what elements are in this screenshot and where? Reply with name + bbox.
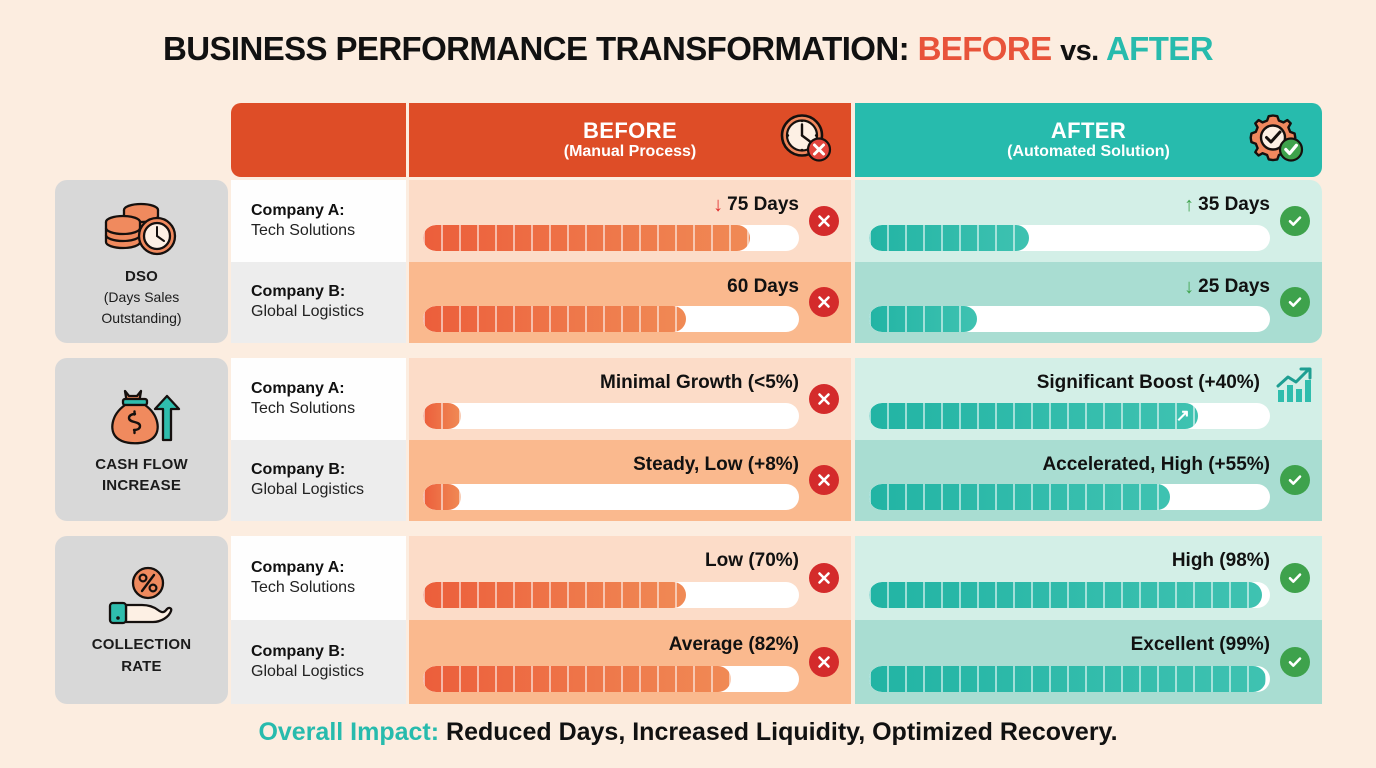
company-name: Company A: <box>251 201 406 221</box>
progress-track <box>423 306 799 332</box>
progress-fill <box>423 306 686 332</box>
status-badge-success <box>1280 465 1310 495</box>
company-org: Global Logistics <box>251 480 406 500</box>
before-cell-collection-rate-b: Average (82%) <box>409 620 851 704</box>
company-org: Tech Solutions <box>251 578 406 598</box>
trend-chart-icon <box>1274 366 1314 411</box>
after-cell-cash-flow-b: Accelerated, High (+55%) <box>855 440 1322 522</box>
after-cell-collection-rate-b: Excellent (99%) <box>855 620 1322 704</box>
progress-track <box>423 225 799 251</box>
progress-track <box>869 666 1270 692</box>
value-text: Low (70%) <box>705 550 799 572</box>
before-value-label-dso-b: 60 Days <box>727 276 799 298</box>
header-after-title: AFTER <box>1007 119 1170 144</box>
header-before-subtitle: (Manual Process) <box>564 143 696 161</box>
company-name: Company B: <box>251 460 406 480</box>
company-org: Tech Solutions <box>251 399 406 419</box>
metric-cell-collection-rate: COLLECTION RATE <box>55 536 228 704</box>
progress-fill <box>869 306 977 332</box>
value-text: 35 Days <box>1198 194 1270 216</box>
metric-title-cash-flow-1: CASH FLOW <box>95 456 188 473</box>
progress-track <box>423 666 799 692</box>
value-text: High (98%) <box>1172 550 1270 572</box>
after-value-label-dso-a: ↑ 35 Days <box>1184 194 1270 216</box>
status-badge-success <box>1280 206 1310 236</box>
page-title-after: AFTER <box>1106 30 1213 67</box>
status-badge-error <box>809 465 839 495</box>
progress-fill <box>423 225 750 251</box>
page-title-main: BUSINESS PERFORMANCE TRANSFORMATION: <box>163 30 909 67</box>
before-cell-dso-a: ↓ 75 Days <box>409 180 851 262</box>
progress-track <box>423 484 799 510</box>
before-cell-cash-flow-b: Steady, Low (+8%) <box>409 440 851 522</box>
footer-summary: Overall Impact: Reduced Days, Increased … <box>0 718 1376 747</box>
status-badge-error <box>809 287 839 317</box>
after-value-label-cash-flow-b: Accelerated, High (+55%) <box>1042 454 1270 476</box>
infographic-page: BUSINESS PERFORMANCE TRANSFORMATION: BEF… <box>0 0 1376 768</box>
coins-clock-icon <box>99 197 185 264</box>
progress-track <box>423 582 799 608</box>
progress-track <box>869 225 1270 251</box>
progress-track <box>869 484 1270 510</box>
header-before-title: BEFORE <box>564 119 696 144</box>
hand-percent-icon <box>100 565 184 632</box>
value-text: Accelerated, High (+55%) <box>1042 454 1270 476</box>
progress-fill <box>869 225 1029 251</box>
header-after-column: AFTER (Automated Solution) <box>855 103 1322 177</box>
after-value-label-dso-b: ↓ 25 Days <box>1184 276 1270 298</box>
progress-fill <box>423 666 731 692</box>
status-badge-error <box>809 563 839 593</box>
company-cell-dso-b: Company B: Global Logistics <box>231 262 406 344</box>
header-corner-blank <box>231 103 406 177</box>
header-after-subtitle: (Automated Solution) <box>1007 143 1170 161</box>
after-cell-cash-flow-a: Significant Boost (+40%) ↗ <box>855 358 1322 440</box>
progress-track: ↗ <box>869 403 1270 429</box>
after-value-label-collection-rate-b: Excellent (99%) <box>1131 634 1270 656</box>
before-cell-dso-b: 60 Days <box>409 262 851 344</box>
table-header-row: BEFORE (Manual Process) AFTER ( <box>0 103 1376 177</box>
metric-title-collection-rate-1: COLLECTION <box>92 636 192 653</box>
clock-x-icon <box>777 112 833 169</box>
company-name: Company B: <box>251 642 406 662</box>
progress-fill <box>869 484 1170 510</box>
company-cell-collection-rate-a: Company A: Tech Solutions <box>231 536 406 620</box>
header-before-text: BEFORE (Manual Process) <box>564 119 696 162</box>
arrow-down-icon: ↓ <box>1184 277 1194 297</box>
company-cell-cash-flow-b: Company B: Global Logistics <box>231 440 406 522</box>
before-value-label-cash-flow-a: Minimal Growth (<5%) <box>600 372 799 394</box>
page-title-before: BEFORE <box>918 30 1052 67</box>
value-text: 25 Days <box>1198 276 1270 298</box>
status-badge-success <box>1280 287 1310 317</box>
metric-cell-cash-flow: CASH FLOW INCREASE <box>55 358 228 521</box>
status-badge-error <box>809 384 839 414</box>
after-cell-dso-a: ↑ 35 Days <box>855 180 1322 262</box>
page-title-vs: vs. <box>1060 35 1099 67</box>
arrow-up-right-icon: ↗ <box>1176 406 1190 426</box>
value-text: Steady, Low (+8%) <box>633 454 799 476</box>
progress-track <box>869 582 1270 608</box>
after-value-label-collection-rate-a: High (98%) <box>1172 550 1270 572</box>
value-text: 60 Days <box>727 276 799 298</box>
company-name: Company A: <box>251 558 406 578</box>
before-value-label-cash-flow-b: Steady, Low (+8%) <box>633 454 799 476</box>
company-cell-cash-flow-a: Company A: Tech Solutions <box>231 358 406 440</box>
metric-title-cash-flow-2: INCREASE <box>102 477 181 494</box>
company-org: Global Logistics <box>251 302 406 322</box>
section-cash-flow: CASH FLOW INCREASE Company A: Tech Solut… <box>0 358 1376 521</box>
after-cell-collection-rate-a: High (98%) <box>855 536 1322 620</box>
page-title: BUSINESS PERFORMANCE TRANSFORMATION: BEF… <box>0 30 1376 68</box>
header-after-text: AFTER (Automated Solution) <box>1007 119 1170 162</box>
before-cell-cash-flow-a: Minimal Growth (<5%) <box>409 358 851 440</box>
company-cell-dso-a: Company A: Tech Solutions <box>231 180 406 262</box>
status-badge-error <box>809 647 839 677</box>
value-text: 75 Days <box>727 194 799 216</box>
after-cell-dso-b: ↓ 25 Days <box>855 262 1322 344</box>
before-value-label-collection-rate-b: Average (82%) <box>669 634 799 656</box>
footer-text: Reduced Days, Increased Liquidity, Optim… <box>446 718 1118 746</box>
company-cell-collection-rate-b: Company B: Global Logistics <box>231 620 406 704</box>
progress-fill <box>423 403 461 429</box>
metric-subtitle-dso-2: Outstanding) <box>101 310 181 326</box>
value-text: Average (82%) <box>669 634 799 656</box>
status-badge-success <box>1280 647 1310 677</box>
value-text: Excellent (99%) <box>1131 634 1270 656</box>
section-dso: DSO (Days Sales Outstanding) Company A: … <box>0 180 1376 343</box>
company-name: Company A: <box>251 379 406 399</box>
metric-cell-dso: DSO (Days Sales Outstanding) <box>55 180 228 343</box>
company-name: Company B: <box>251 282 406 302</box>
header-before-column: BEFORE (Manual Process) <box>409 103 851 177</box>
gear-check-icon <box>1248 112 1304 169</box>
before-value-label-dso-a: ↓ 75 Days <box>713 194 799 216</box>
status-badge-error <box>809 206 839 236</box>
progress-track <box>869 306 1270 332</box>
arrow-down-icon: ↓ <box>713 195 723 215</box>
progress-track <box>423 403 799 429</box>
value-text: Significant Boost (+40%) <box>1037 372 1260 394</box>
metric-title-collection-rate-2: RATE <box>121 658 162 675</box>
company-org: Tech Solutions <box>251 221 406 241</box>
progress-fill <box>423 582 686 608</box>
money-bag-arrow-up-icon <box>103 385 181 452</box>
arrow-up-icon: ↑ <box>1184 195 1194 215</box>
before-cell-collection-rate-a: Low (70%) <box>409 536 851 620</box>
company-org: Global Logistics <box>251 662 406 682</box>
progress-fill: ↗ <box>869 403 1198 429</box>
metric-subtitle-dso-1: (Days Sales <box>104 289 179 305</box>
after-value-label-cash-flow-a: Significant Boost (+40%) <box>1037 372 1260 394</box>
metric-title-dso: DSO <box>125 268 158 285</box>
footer-lead: Overall Impact: <box>258 718 439 746</box>
status-badge-success <box>1280 563 1310 593</box>
progress-fill <box>869 666 1266 692</box>
value-text: Minimal Growth (<5%) <box>600 372 799 394</box>
before-value-label-collection-rate-a: Low (70%) <box>705 550 799 572</box>
progress-fill <box>423 484 461 510</box>
progress-fill <box>869 582 1262 608</box>
section-collection-rate: COLLECTION RATE Company A: Tech Solution… <box>0 536 1376 704</box>
